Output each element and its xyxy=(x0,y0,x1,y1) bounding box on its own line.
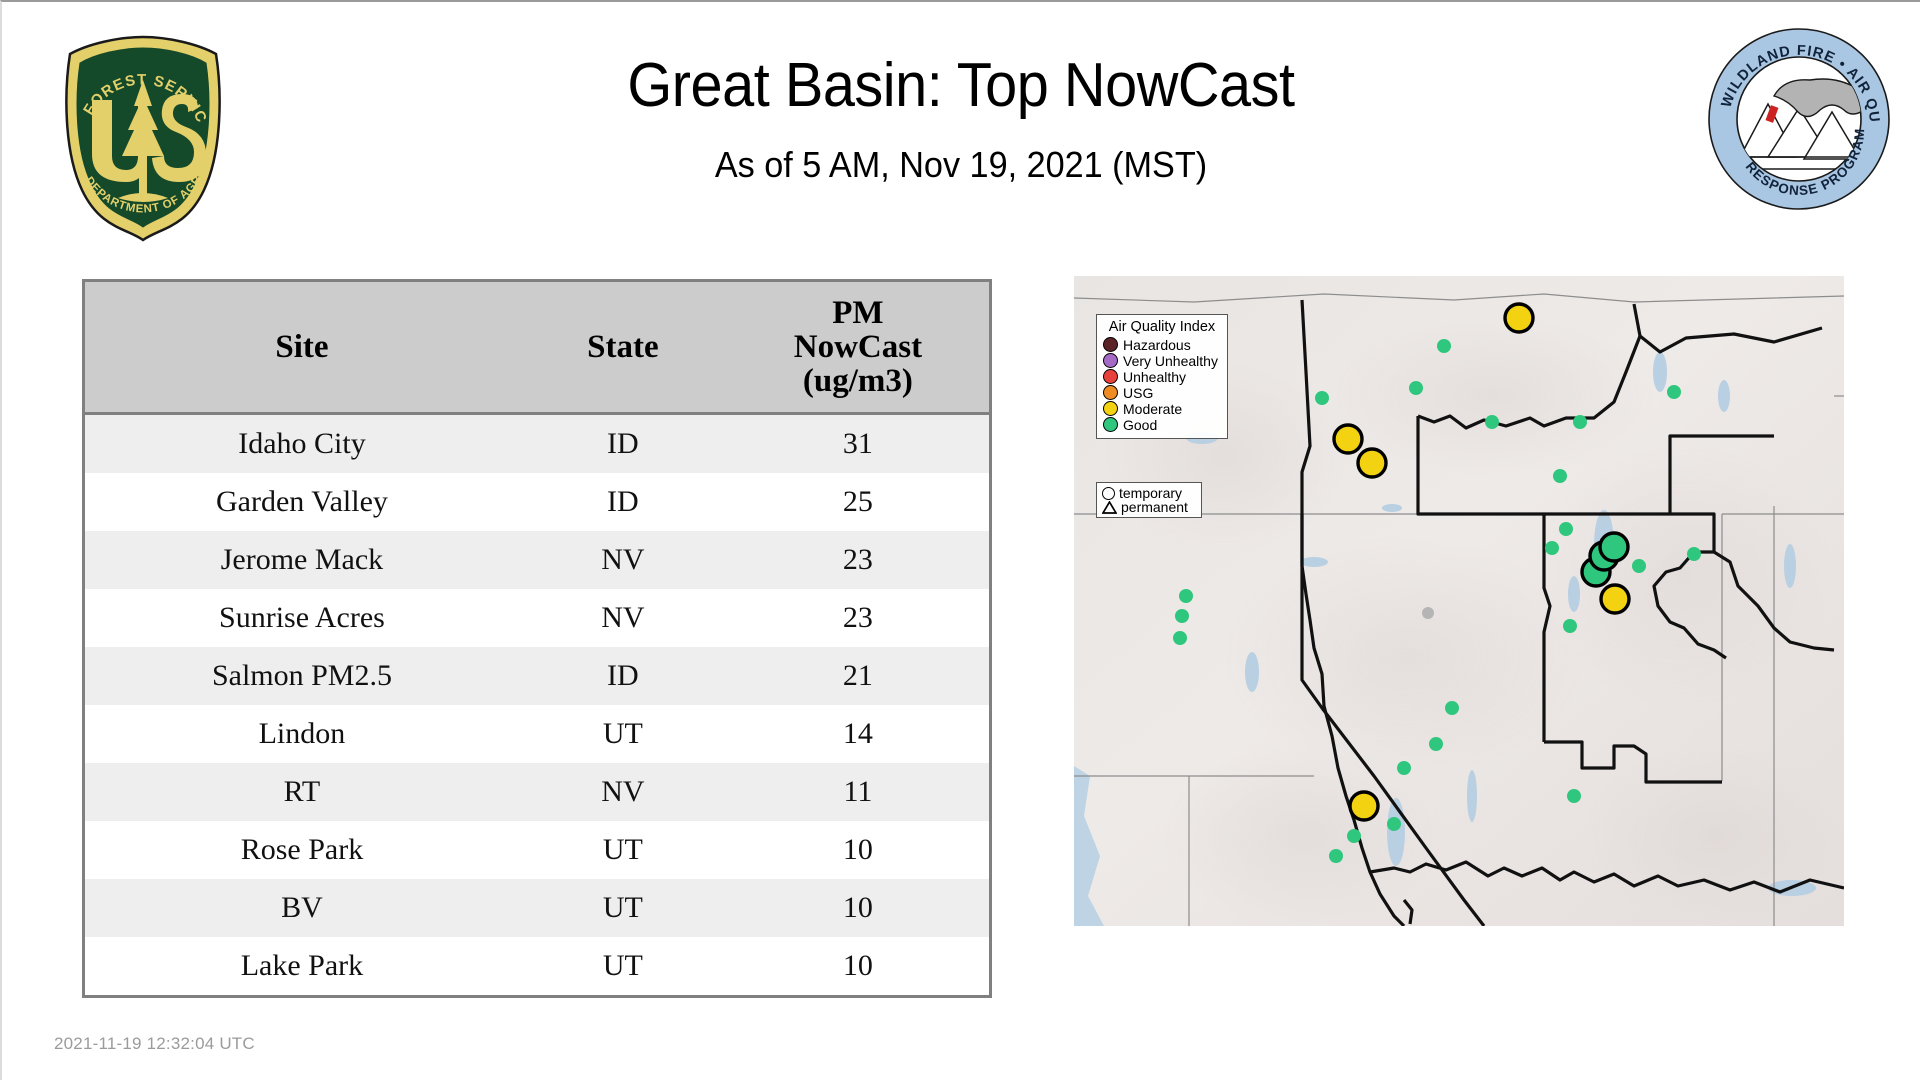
table-row[interactable]: Garden ValleyID25 xyxy=(85,473,989,531)
map-site-marker[interactable] xyxy=(1567,789,1581,803)
map-site-marker[interactable] xyxy=(1445,701,1459,715)
aqi-legend-row: Moderate xyxy=(1103,401,1221,416)
state-cell: UT xyxy=(519,937,727,995)
table-header-row: Site State PM NowCast (ug/m3) xyxy=(85,282,989,414)
aqi-legend-row: Unhealthy xyxy=(1103,369,1221,384)
map-site-marker[interactable] xyxy=(1315,391,1329,405)
aqi-legend-swatch-icon xyxy=(1103,385,1118,400)
map-site-marker[interactable] xyxy=(1387,817,1401,831)
aqi-legend-swatch-icon xyxy=(1103,417,1118,432)
aqi-legend-label: Hazardous xyxy=(1123,338,1191,352)
pm-cell: 10 xyxy=(727,937,989,995)
column-header-state-label: State xyxy=(587,329,658,365)
aqi-legend-swatch-icon xyxy=(1103,369,1118,384)
pm-cell: 25 xyxy=(727,473,989,531)
table-row[interactable]: Sunrise AcresNV23 xyxy=(85,589,989,647)
state-cell: ID xyxy=(519,647,727,705)
state-cell: NV xyxy=(519,763,727,821)
column-header-site-label: Site xyxy=(275,329,328,365)
aqi-legend-label: Moderate xyxy=(1123,402,1182,416)
triangle-outline-icon xyxy=(1102,501,1117,514)
map-site-marker[interactable] xyxy=(1175,609,1189,623)
table-row[interactable]: Jerome MackNV23 xyxy=(85,531,989,589)
map-site-marker[interactable] xyxy=(1429,737,1443,751)
site-type-temporary: temporary xyxy=(1102,486,1196,500)
map-site-marker[interactable] xyxy=(1437,339,1451,353)
site-type-temporary-label: temporary xyxy=(1119,486,1182,500)
map-site-marker[interactable] xyxy=(1601,585,1629,613)
map-site-marker[interactable] xyxy=(1329,849,1343,863)
table-row[interactable]: Idaho CityID31 xyxy=(85,414,989,474)
aqi-legend-swatch-icon xyxy=(1103,401,1118,416)
aqi-legend-items: HazardousVery UnhealthyUnhealthyUSGModer… xyxy=(1103,337,1221,432)
site-cell: Rose Park xyxy=(85,821,519,879)
site-type-permanent-label: permanent xyxy=(1121,500,1188,514)
pm-cell: 10 xyxy=(727,821,989,879)
table-body: Idaho CityID31Garden ValleyID25Jerome Ma… xyxy=(85,414,989,996)
map-site-marker[interactable] xyxy=(1397,761,1411,775)
map-site-marker[interactable] xyxy=(1179,589,1193,603)
state-cell: UT xyxy=(519,705,727,763)
table-row[interactable]: LindonUT14 xyxy=(85,705,989,763)
state-cell: NV xyxy=(519,589,727,647)
aqi-legend-row: USG xyxy=(1103,385,1221,400)
table-row[interactable]: Lake ParkUT10 xyxy=(85,937,989,995)
map-site-marker[interactable] xyxy=(1687,547,1701,561)
pm-cell: 31 xyxy=(727,414,989,474)
table-row[interactable]: Rose ParkUT10 xyxy=(85,821,989,879)
page-title: Great Basin: Top NowCast xyxy=(69,50,1853,121)
site-cell: Sunrise Acres xyxy=(85,589,519,647)
column-header-pm-line2: NowCast xyxy=(794,329,922,365)
site-type-permanent: permanent xyxy=(1102,500,1196,514)
map-site-marker[interactable] xyxy=(1485,415,1499,429)
state-cell: NV xyxy=(519,531,727,589)
map-site-marker[interactable] xyxy=(1347,829,1361,843)
aqi-legend-label: Unhealthy xyxy=(1123,370,1186,384)
page-subtitle: As of 5 AM, Nov 19, 2021 (MST) xyxy=(50,144,1872,186)
footer-timestamp: 2021-11-19 12:32:04 UTC xyxy=(54,1034,255,1054)
wfaqrp-circular-logo: WILDLAND FIRE • AIR QUALITY RESPONSE PRO… xyxy=(1706,26,1892,212)
state-cell: ID xyxy=(519,473,727,531)
great-basin-map[interactable]: Air Quality Index HazardousVery Unhealth… xyxy=(1074,276,1844,926)
site-cell: Garden Valley xyxy=(85,473,519,531)
aqi-legend: Air Quality Index HazardousVery Unhealth… xyxy=(1096,314,1228,439)
site-cell: Salmon PM2.5 xyxy=(85,647,519,705)
map-site-marker[interactable] xyxy=(1600,533,1628,561)
pm-cell: 14 xyxy=(727,705,989,763)
map-site-marker[interactable] xyxy=(1409,381,1423,395)
column-header-pm-line1: PM xyxy=(832,295,883,331)
map-site-marker[interactable] xyxy=(1358,449,1386,477)
site-cell: Jerome Mack xyxy=(85,531,519,589)
aqi-table-container: Site State PM NowCast (ug/m3) Idaho City… xyxy=(82,279,992,998)
map-marker-inactive xyxy=(1422,607,1434,619)
site-cell: BV xyxy=(85,879,519,937)
map-site-marker[interactable] xyxy=(1545,541,1559,555)
column-header-site[interactable]: Site xyxy=(85,282,519,414)
map-site-marker[interactable] xyxy=(1559,522,1573,536)
table-row[interactable]: Salmon PM2.5ID21 xyxy=(85,647,989,705)
aqi-legend-swatch-icon xyxy=(1103,353,1118,368)
circle-outline-icon xyxy=(1102,487,1115,500)
pm-cell: 11 xyxy=(727,763,989,821)
table-header: Site State PM NowCast (ug/m3) xyxy=(85,282,989,414)
aqi-legend-row: Hazardous xyxy=(1103,337,1221,352)
map-site-marker[interactable] xyxy=(1350,792,1378,820)
map-site-marker[interactable] xyxy=(1573,415,1587,429)
aqi-legend-label: Good xyxy=(1123,418,1157,432)
map-site-marker[interactable] xyxy=(1553,469,1567,483)
pm-cell: 10 xyxy=(727,879,989,937)
aqi-table: Site State PM NowCast (ug/m3) Idaho City… xyxy=(85,282,989,995)
map-site-marker[interactable] xyxy=(1505,304,1533,332)
column-header-pm-line3: (ug/m3) xyxy=(803,363,913,399)
slide-canvas: FOREST SERVICE DEPARTMENT OF AGRICULTURE… xyxy=(0,0,1920,1080)
state-cell: UT xyxy=(519,879,727,937)
pm-cell: 21 xyxy=(727,647,989,705)
aqi-legend-swatch-icon xyxy=(1103,337,1118,352)
table-row[interactable]: BVUT10 xyxy=(85,879,989,937)
aqi-legend-row: Very Unhealthy xyxy=(1103,353,1221,368)
pm-cell: 23 xyxy=(727,531,989,589)
column-header-state[interactable]: State xyxy=(519,282,727,414)
map-site-marker[interactable] xyxy=(1632,559,1646,573)
site-cell: Idaho City xyxy=(85,414,519,474)
site-cell: Lindon xyxy=(85,705,519,763)
map-site-marker[interactable] xyxy=(1334,425,1362,453)
aqi-legend-row: Good xyxy=(1103,417,1221,432)
map-site-marker[interactable] xyxy=(1173,631,1187,645)
aqi-legend-title: Air Quality Index xyxy=(1103,319,1221,335)
site-cell: Lake Park xyxy=(85,937,519,995)
table-row[interactable]: RTNV11 xyxy=(85,763,989,821)
aqi-legend-label: Very Unhealthy xyxy=(1123,354,1218,368)
site-cell: RT xyxy=(85,763,519,821)
state-cell: ID xyxy=(519,414,727,474)
map-site-marker[interactable] xyxy=(1563,619,1577,633)
aqi-legend-label: USG xyxy=(1123,386,1153,400)
state-cell: UT xyxy=(519,821,727,879)
column-header-pm-nowcast[interactable]: PM NowCast (ug/m3) xyxy=(727,282,989,414)
site-type-legend: temporary permanent xyxy=(1096,482,1202,518)
map-site-marker[interactable] xyxy=(1667,385,1681,399)
pm-cell: 23 xyxy=(727,589,989,647)
